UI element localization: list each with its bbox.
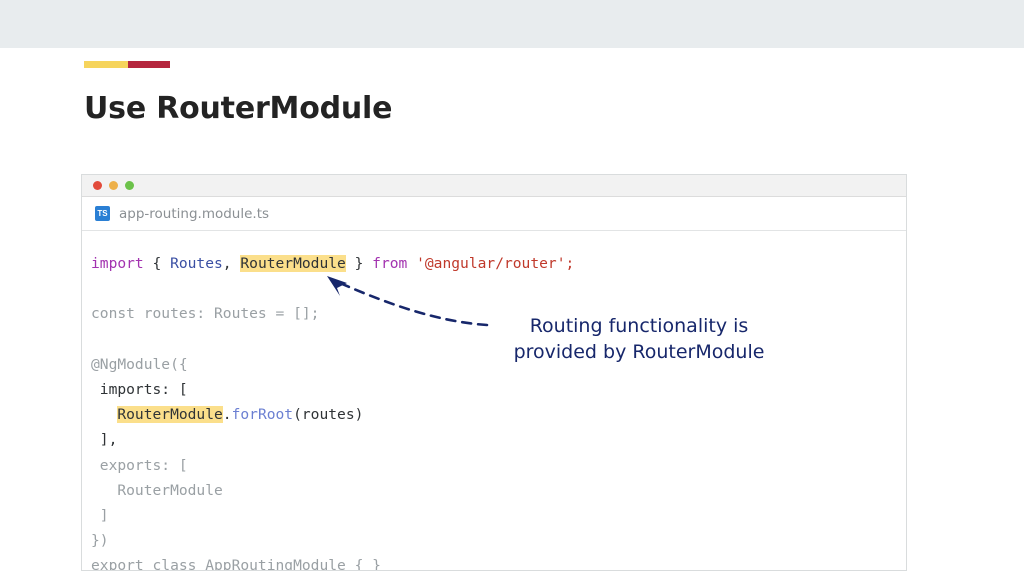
editor-tab-bar: TS app-routing.module.ts [82, 197, 906, 231]
code-line-ngmodule-decorator: @NgModule({ [82, 352, 906, 377]
code-line-routermodule-forroot: RouterModule.forRoot(routes) [82, 402, 906, 427]
window-minimize-button[interactable] [109, 181, 118, 190]
code-line-exports-open: exports: [ [82, 453, 906, 478]
token-brace-close: } [346, 255, 372, 272]
top-band [0, 0, 1024, 48]
token-routermodule-highlighted-2: RouterModule [117, 406, 222, 423]
token-routermodule-highlighted: RouterModule [240, 255, 345, 272]
token-routes-type: Routes [170, 255, 223, 272]
editor-tab-filename[interactable]: app-routing.module.ts [119, 206, 269, 222]
code-line-export-class: export class AppRoutingModule { } [82, 553, 906, 571]
token-brace-open: { [144, 255, 170, 272]
code-line-imports-open: imports: [ [82, 377, 906, 402]
accent-rule [84, 61, 170, 68]
token-import-keyword: import [91, 255, 144, 272]
code-line-import: import { Routes, RouterModule } from '@a… [82, 251, 906, 276]
token-forroot-method: forRoot [232, 406, 294, 423]
code-line-decorator-close: }) [82, 528, 906, 553]
token-from-keyword: from [372, 255, 407, 272]
code-line-exports-close: ] [82, 503, 906, 528]
code-window: TS app-routing.module.ts import { Routes… [81, 174, 907, 571]
token-comma: , [223, 255, 241, 272]
code-line-imports-close: ], [82, 427, 906, 452]
code-line-const-routes: const routes: Routes = []; [82, 301, 906, 326]
code-line-exports-routermodule: RouterModule [82, 478, 906, 503]
window-close-button[interactable] [93, 181, 102, 190]
page-title: Use RouterModule [84, 91, 392, 126]
accent-rule-red-segment [128, 61, 170, 68]
window-maximize-button[interactable] [125, 181, 134, 190]
accent-rule-yellow-segment [84, 61, 128, 68]
code-line-blank-1 [82, 276, 906, 301]
token-forroot-args: (routes) [293, 406, 363, 423]
token-module-path-string: '@angular/router'; [407, 255, 574, 272]
code-line-blank-2 [82, 327, 906, 352]
code-editor-content[interactable]: import { Routes, RouterModule } from '@a… [82, 231, 906, 569]
typescript-file-icon: TS [95, 206, 110, 221]
token-dot: . [223, 406, 232, 423]
window-titlebar [82, 175, 906, 197]
token-indent [91, 406, 117, 423]
